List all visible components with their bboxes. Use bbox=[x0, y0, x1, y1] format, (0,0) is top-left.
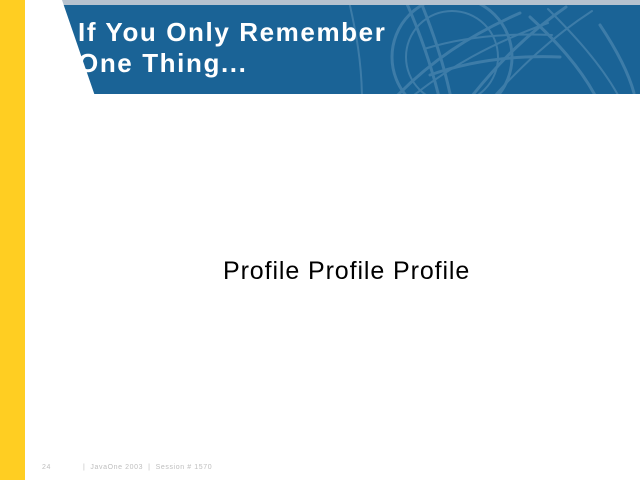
slide-body: Profile Profile Profile bbox=[60, 110, 620, 440]
body-text-line: Profile Profile Profile bbox=[223, 257, 470, 286]
footer-conference: JavaOne 2003 bbox=[90, 464, 143, 471]
left-yellow-bar bbox=[0, 0, 25, 480]
footer-separator-1: | bbox=[78, 464, 90, 471]
footer-page-number: 24 bbox=[42, 464, 78, 471]
footer-session: Session # 1570 bbox=[156, 464, 213, 471]
slide-canvas: If You Only Remember One Thing... Profil… bbox=[0, 0, 640, 480]
footer-separator-2: | bbox=[143, 464, 155, 471]
slide-footer: 24 | JavaOne 2003 | Session # 1570 bbox=[42, 461, 212, 473]
slide-title: If You Only Remember One Thing... bbox=[78, 17, 598, 79]
